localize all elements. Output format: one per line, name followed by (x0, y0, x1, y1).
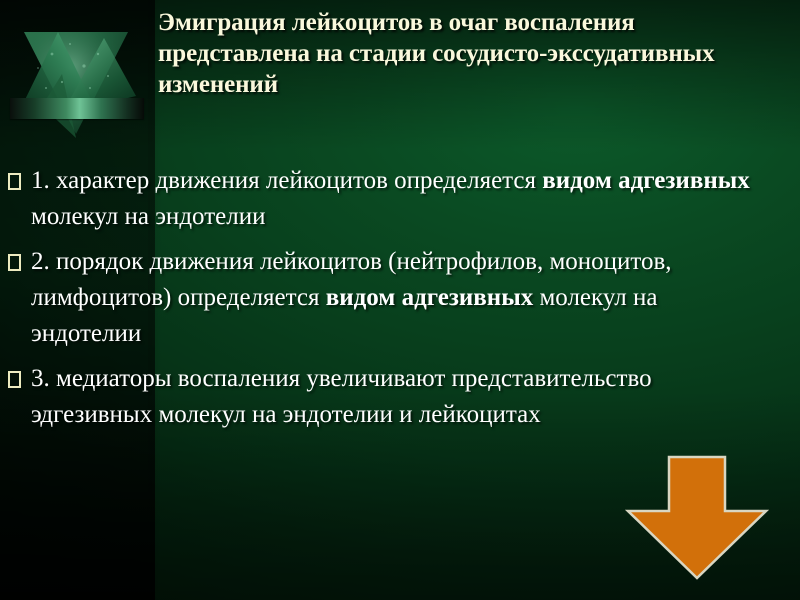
hollow-box-bullet-icon (8, 371, 21, 388)
triangular-emblem-icon (12, 14, 140, 146)
bullet-text: 2. порядок движения лейкоцитов (нейтрофи… (31, 244, 792, 352)
down-arrow-icon (625, 455, 769, 581)
list-item: 1. характер движения лейкоцитов определя… (8, 163, 792, 235)
emblem-gradient-band (10, 98, 144, 119)
bullet-text: 1. характер движения лейкоцитов определя… (31, 163, 792, 235)
bullet-list: 1. характер движения лейкоцитов определя… (8, 163, 792, 442)
presentation-slide: Эмиграция лейкоцитов в очаг воспаления п… (0, 0, 800, 600)
down-arrow-shape (628, 457, 766, 578)
slide-title: Эмиграция лейкоцитов в очаг воспаления п… (158, 7, 778, 100)
hollow-box-bullet-icon (8, 173, 21, 190)
list-item: 3. медиаторы воспаления увеличивают пред… (8, 361, 792, 433)
bullet-text: 3. медиаторы воспаления увеличивают пред… (31, 361, 792, 433)
list-item: 2. порядок движения лейкоцитов (нейтрофи… (8, 244, 792, 352)
hollow-box-bullet-icon (8, 254, 21, 271)
